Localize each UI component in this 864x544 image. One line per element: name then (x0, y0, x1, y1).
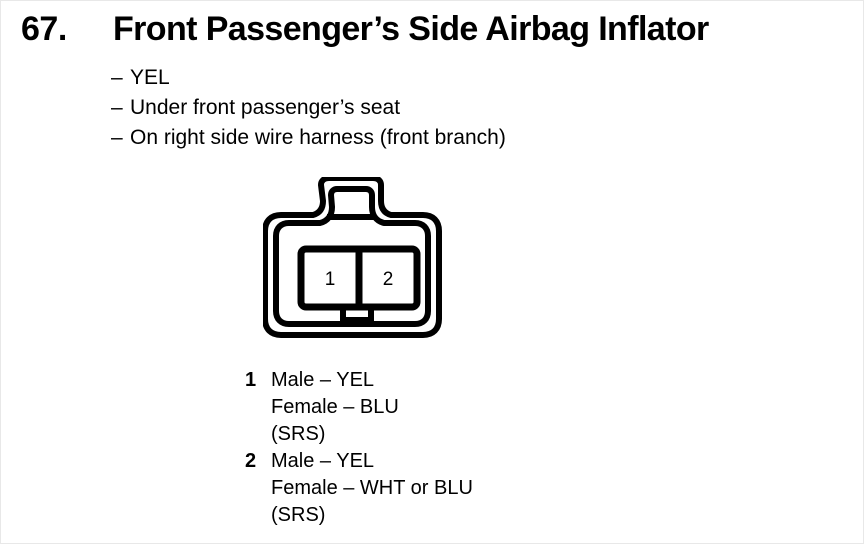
list-item-label: YEL (130, 63, 170, 93)
legend-pin-note: (SRS) (271, 421, 325, 448)
legend-row: 2 Male – YEL (245, 448, 665, 475)
legend-pin-text: Male – YEL (271, 367, 374, 394)
legend-entry-pin-2: 2 Male – YEL Female – WHT or BLU (SRS) (245, 448, 665, 529)
legend-row: Female – WHT or BLU (245, 475, 665, 502)
connector-diagram: 1 2 (263, 177, 453, 345)
list-item-label: Under front passenger’s seat (130, 93, 400, 123)
bullet-dash-icon: – (111, 123, 130, 153)
connector-illustration-svg: 1 2 (263, 177, 453, 345)
bullet-dash-icon: – (111, 93, 130, 123)
document-page: 67. Front Passenger’s Side Airbag Inflat… (0, 0, 864, 544)
item-number: 67. (21, 7, 67, 51)
list-item: – On right side wire harness (front bran… (111, 123, 751, 153)
legend-row: Female – BLU (245, 394, 665, 421)
legend-row: (SRS) (245, 502, 665, 529)
legend-row: (SRS) (245, 421, 665, 448)
page-title: Front Passenger’s Side Airbag Inflator (113, 7, 709, 51)
legend-pin-text: Female – WHT or BLU (271, 475, 473, 502)
description-list: – YEL – Under front passenger’s seat – O… (111, 63, 751, 153)
legend-entry-pin-1: 1 Male – YEL Female – BLU (SRS) (245, 367, 665, 448)
legend-pin-number: 1 (245, 367, 271, 394)
pin-legend: 1 Male – YEL Female – BLU (SRS) 2 Male –… (245, 367, 665, 529)
page-header: 67. Front Passenger’s Side Airbag Inflat… (1, 7, 864, 55)
cavity-label-1: 1 (325, 269, 336, 290)
legend-row: 1 Male – YEL (245, 367, 665, 394)
legend-pin-number: 2 (245, 448, 271, 475)
bullet-dash-icon: – (111, 63, 130, 93)
list-item: – YEL (111, 63, 751, 93)
legend-pin-text: Female – BLU (271, 394, 399, 421)
legend-pin-text: Male – YEL (271, 448, 374, 475)
list-item: – Under front passenger’s seat (111, 93, 751, 123)
list-item-label: On right side wire harness (front branch… (130, 123, 506, 153)
legend-pin-note: (SRS) (271, 502, 325, 529)
cavity-label-2: 2 (383, 269, 394, 290)
connector-outer-shell (265, 178, 439, 335)
